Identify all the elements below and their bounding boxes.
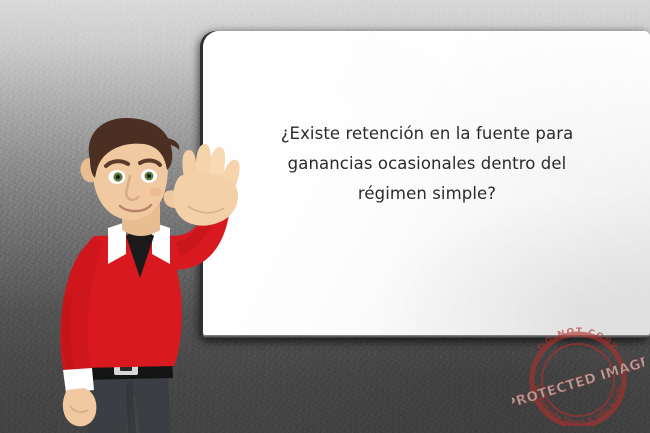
- question-line-2: ganancias ocasionales dentro del: [237, 149, 617, 179]
- watermark-inner-ring: [542, 344, 614, 416]
- watermark-outer-ring: [532, 334, 624, 426]
- question-line-3: régimen simple?: [237, 179, 617, 209]
- whiteboard-bottom-edge: [203, 335, 650, 338]
- question-line-1: ¿Existe retención en la fuente para: [237, 119, 617, 149]
- character-waving-hand: [164, 144, 240, 226]
- whiteboard-question-text: ¿Existe retención en la fuente para gana…: [237, 119, 617, 209]
- svg-text:PROTECTED IMAGE: PROTECTED IMAGE: [512, 353, 644, 412]
- character-left-hand: [63, 388, 97, 426]
- scene-root: ¿Existe retención en la fuente para gana…: [0, 0, 650, 433]
- character-head: [80, 118, 179, 220]
- watermark-bottom-arc-text: by Website Down & DMCA.com: [532, 385, 623, 426]
- watermark-main-label: PROTECTED IMAGE: [512, 353, 644, 412]
- cartoon-character: [48, 118, 258, 433]
- whiteboard: ¿Existe retención en la fuente para gana…: [203, 31, 650, 338]
